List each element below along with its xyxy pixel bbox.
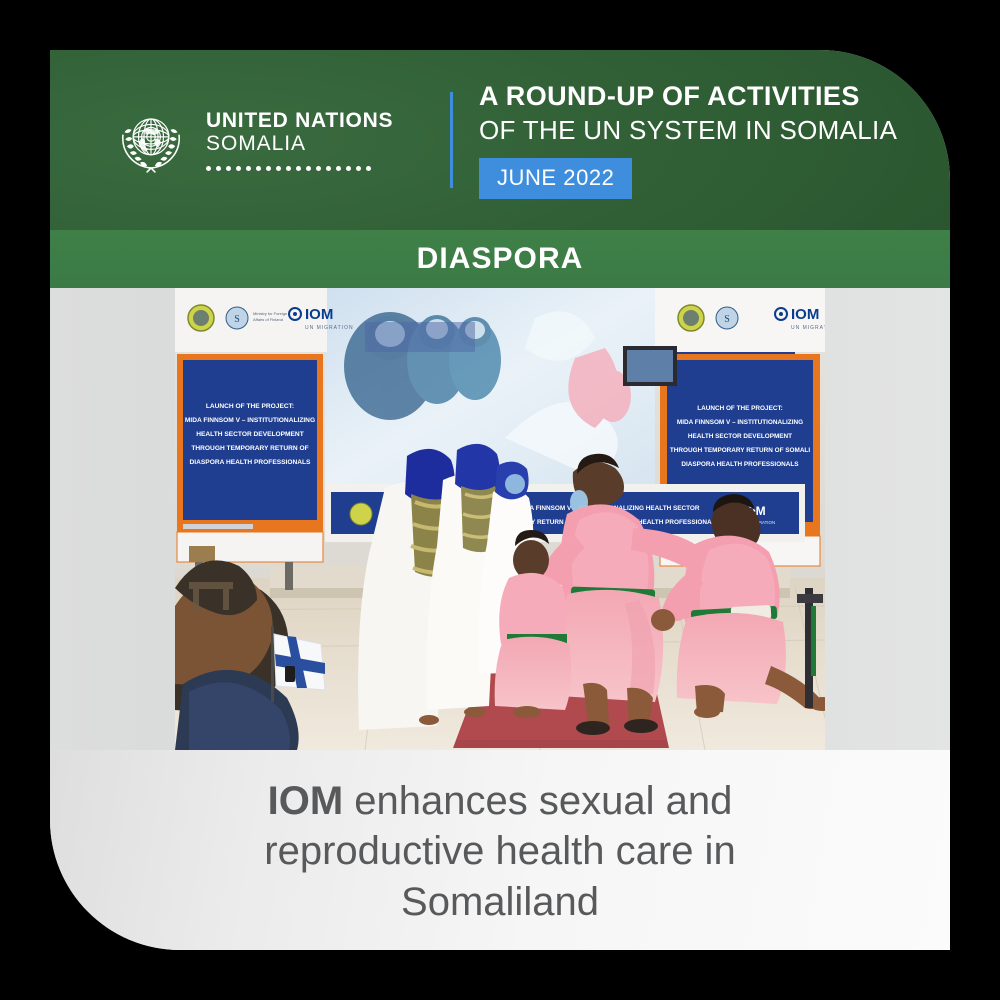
logo-dot bbox=[216, 166, 221, 171]
svg-text:S: S bbox=[724, 314, 730, 325]
logo-dot bbox=[286, 166, 291, 171]
svg-text:DIASPORA HEALTH PROFESSIONALS: DIASPORA HEALTH PROFESSIONALS bbox=[190, 459, 311, 466]
headline-lead: IOM bbox=[268, 779, 344, 823]
svg-text:MIDA FINNSOM V – INSTITUTIONA: MIDA FINNSOM V – INSTITUTIONALIZING bbox=[185, 417, 315, 424]
logo-line-2: SOMALIA bbox=[206, 132, 393, 157]
logo-dot bbox=[206, 166, 211, 171]
headline: IOM enhances sexual and reproductive hea… bbox=[240, 776, 760, 927]
card-header: UNITED NATIONS SOMALIA A ROUND-UP OF ACT… bbox=[50, 50, 950, 230]
section-band-label: DIASPORA bbox=[417, 242, 584, 276]
logo-dot bbox=[356, 166, 361, 171]
event-photo: LAUNCH OF THE PROJECT: MIDA FINNSOM V - … bbox=[175, 288, 825, 750]
header-title-line-1: A ROUND-UP OF ACTIVITIES bbox=[479, 81, 897, 113]
logo-dot bbox=[266, 166, 271, 171]
svg-text:LAUNCH OF THE PROJECT:: LAUNCH OF THE PROJECT: bbox=[206, 403, 294, 410]
logo-dot bbox=[246, 166, 251, 171]
svg-text:THROUGH TEMPORARY RETURN OF: THROUGH TEMPORARY RETURN OF bbox=[191, 445, 308, 452]
photo-strip: LAUNCH OF THE PROJECT: MIDA FINNSOM V - … bbox=[50, 288, 950, 750]
logo-dot bbox=[226, 166, 231, 171]
svg-text:IOM: IOM bbox=[305, 306, 333, 323]
svg-text:HEALTH SECTOR DEVELOPMENT: HEALTH SECTOR DEVELOPMENT bbox=[688, 433, 792, 440]
logo-dot bbox=[296, 166, 301, 171]
header-title-line-2: OF THE UN SYSTEM IN SOMALIA bbox=[479, 115, 897, 147]
svg-text:UN MIGRATION: UN MIGRATION bbox=[791, 325, 825, 331]
un-emblem-icon bbox=[112, 101, 190, 179]
svg-text:Ministry for Foreign: Ministry for Foreign bbox=[253, 311, 287, 316]
svg-text:MIDA FINNSOM V – INSTITUTIONA: MIDA FINNSOM V – INSTITUTIONALIZING bbox=[677, 419, 803, 426]
logo-wordmark: UNITED NATIONS SOMALIA bbox=[206, 109, 393, 171]
date-badge: JUNE 2022 bbox=[479, 158, 632, 199]
header-title-block: A ROUND-UP OF ACTIVITIES OF THE UN SYSTE… bbox=[479, 81, 897, 200]
header-divider bbox=[450, 92, 453, 188]
logo-dot bbox=[336, 166, 341, 171]
un-somalia-logo: UNITED NATIONS SOMALIA bbox=[112, 101, 442, 179]
svg-text:THROUGH TEMPORARY RETURN OF S: THROUGH TEMPORARY RETURN OF SOMALI bbox=[670, 447, 810, 454]
logo-dot bbox=[236, 166, 241, 171]
logo-dot-rule bbox=[206, 166, 393, 171]
caption-area: IOM enhances sexual and reproductive hea… bbox=[50, 750, 950, 950]
logo-dot bbox=[276, 166, 281, 171]
svg-text:Affairs of Finland: Affairs of Finland bbox=[253, 317, 283, 322]
logo-dot bbox=[366, 166, 371, 171]
logo-dot bbox=[316, 166, 321, 171]
section-band: DIASPORA bbox=[50, 230, 950, 288]
logo-dot bbox=[346, 166, 351, 171]
svg-text:LAUNCH OF THE PROJECT:: LAUNCH OF THE PROJECT: bbox=[697, 405, 783, 412]
svg-text:UN MIGRATION: UN MIGRATION bbox=[305, 325, 354, 331]
logo-dot bbox=[326, 166, 331, 171]
logo-line-1: UNITED NATIONS bbox=[206, 109, 393, 133]
svg-text:DIASPORA HEALTH PROFESSIONALS: DIASPORA HEALTH PROFESSIONALS bbox=[681, 461, 799, 468]
svg-text:S: S bbox=[234, 314, 240, 325]
logo-dot bbox=[306, 166, 311, 171]
svg-text:IOM: IOM bbox=[791, 306, 819, 323]
logo-dot bbox=[256, 166, 261, 171]
svg-text:HEALTH SECTOR DEVELOPMENT: HEALTH SECTOR DEVELOPMENT bbox=[196, 431, 303, 438]
newsletter-card: UNITED NATIONS SOMALIA A ROUND-UP OF ACT… bbox=[50, 50, 950, 950]
